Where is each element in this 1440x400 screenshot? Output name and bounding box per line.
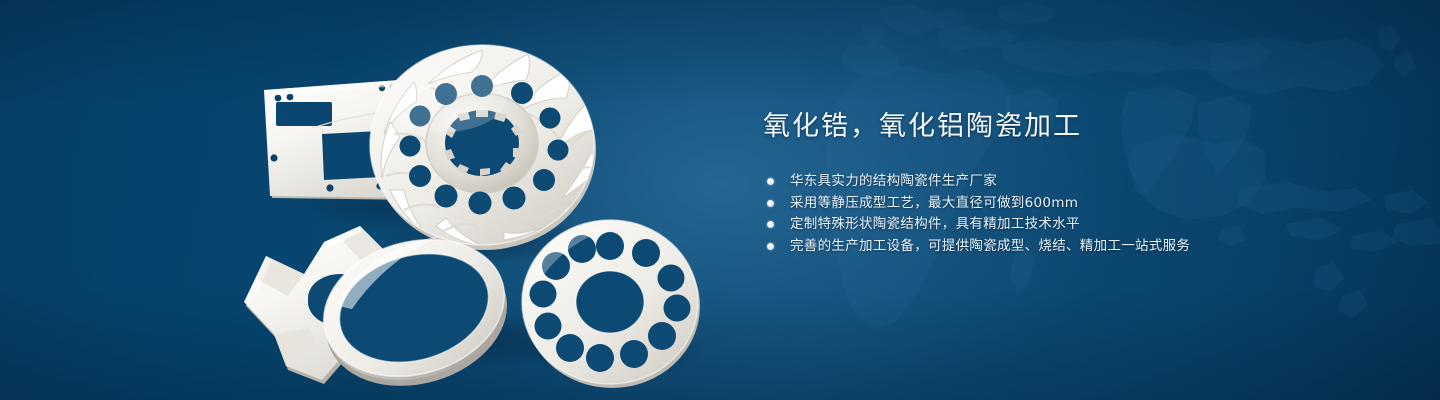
ceramic-products-photo [232, 40, 702, 390]
ceramic-hole-plate [522, 220, 700, 388]
list-item: 定制特殊形状陶瓷结构件，具有精加工技术水平 [763, 214, 1403, 236]
bullet-circle-icon [767, 221, 774, 228]
list-item: 采用等静压成型工艺，最大直径可做到600mm [763, 193, 1403, 215]
bullet-circle-icon [767, 243, 774, 250]
hero-banner: 氧化锆，氧化铝陶瓷加工 华东具实力的结构陶瓷件生产厂家 采用等静压成型工艺，最大… [0, 0, 1440, 400]
bullet-circle-icon [767, 200, 774, 207]
feature-text: 华东具实力的结构陶瓷件生产厂家 [790, 173, 997, 189]
list-item: 完善的生产加工设备，可提供陶瓷成型、烧结、精加工一站式服务 [763, 236, 1403, 258]
bullet-circle-icon [767, 178, 774, 185]
feature-list: 华东具实力的结构陶瓷件生产厂家 采用等静压成型工艺，最大直径可做到600mm 定… [763, 171, 1403, 257]
feature-text: 完善的生产加工设备，可提供陶瓷成型、烧结、精加工一站式服务 [790, 238, 1190, 254]
page-title: 氧化锆，氧化铝陶瓷加工 [763, 110, 1403, 144]
feature-text: 采用等静压成型工艺，最大直径可做到600mm [790, 195, 1078, 211]
ceramic-impeller-disc [370, 45, 596, 250]
feature-text: 定制特殊形状陶瓷结构件，具有精加工技术水平 [790, 216, 1080, 232]
banner-copy: 氧化锆，氧化铝陶瓷加工 华东具实力的结构陶瓷件生产厂家 采用等静压成型工艺，最大… [763, 110, 1403, 257]
list-item: 华东具实力的结构陶瓷件生产厂家 [763, 171, 1403, 193]
